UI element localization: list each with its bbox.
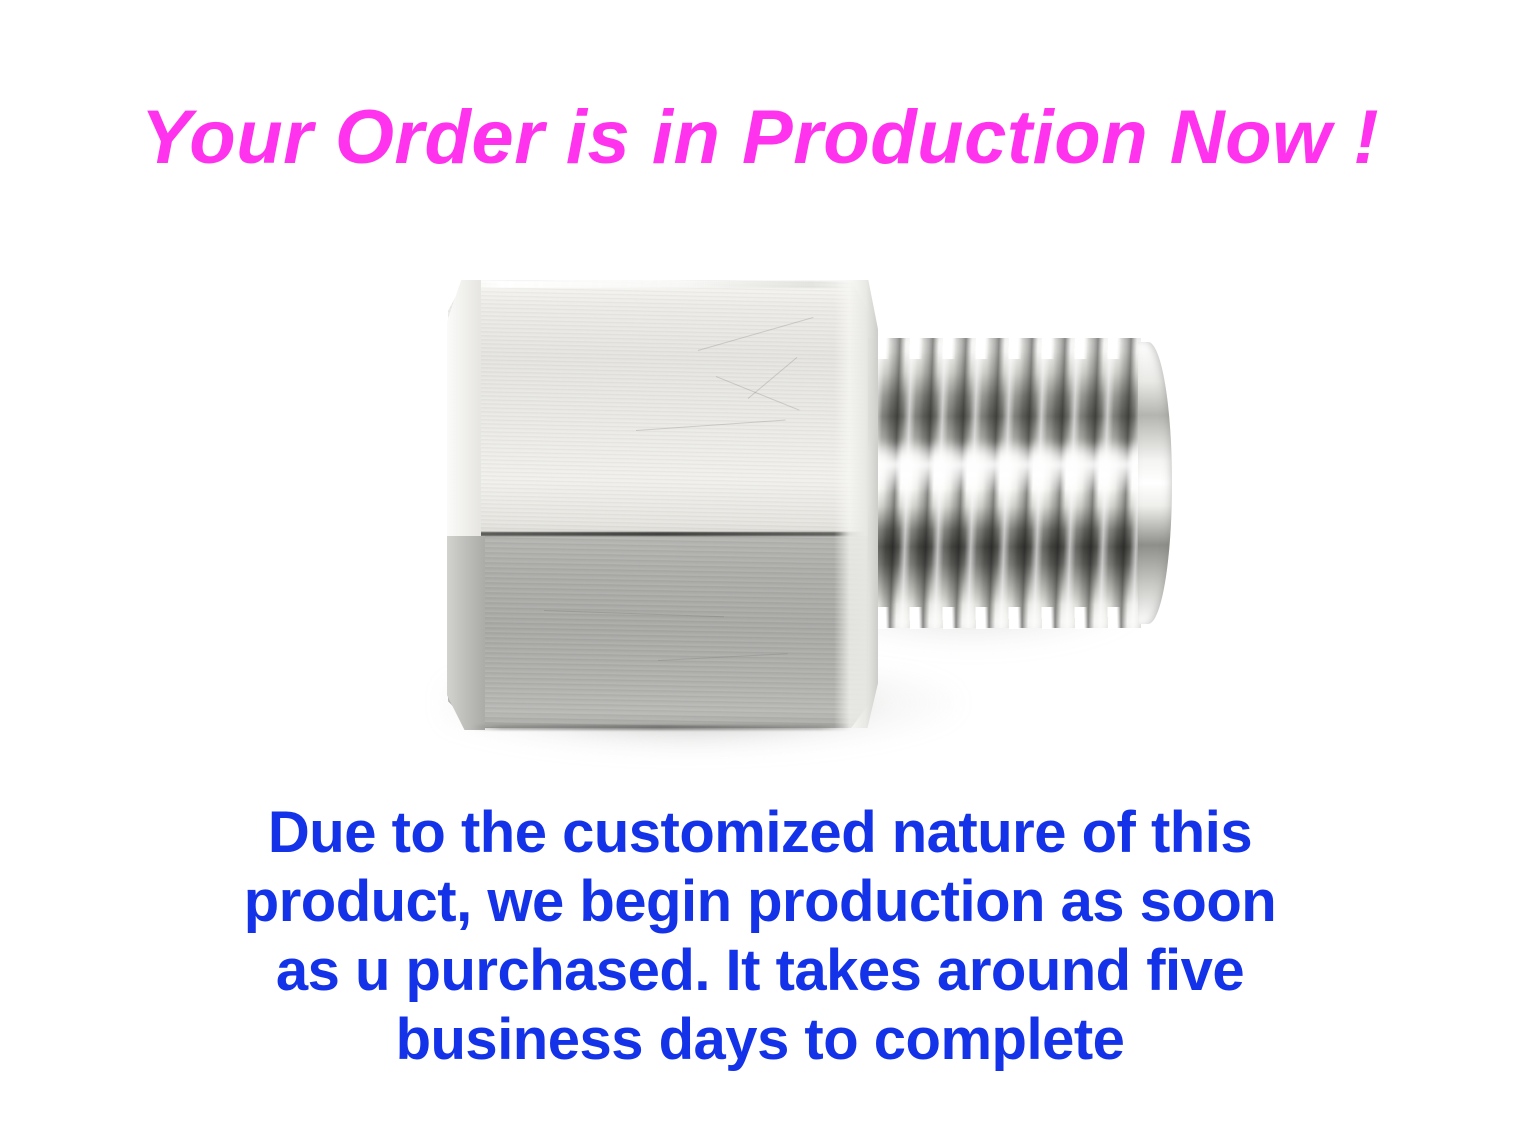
hex-top-highlight: [462, 281, 858, 288]
hex-parting-edge: [454, 532, 864, 536]
product-image: [400, 240, 1220, 780]
thread-specular-band: [840, 442, 1170, 491]
promotional-banner: Your Order is in Production Now !: [0, 0, 1520, 1140]
production-notice: Due to the customized nature of this pro…: [0, 798, 1520, 1074]
thread-crests-top: [844, 337, 1154, 359]
notice-line-4: business days to complete: [0, 1005, 1520, 1074]
hex-shoulder: [834, 280, 878, 728]
hex-chamfer-bottom-left: [447, 536, 485, 730]
hex-chamfer-top-left: [447, 280, 481, 538]
thread-crests-bottom: [844, 607, 1154, 629]
page-title: Your Order is in Production Now !: [0, 96, 1520, 180]
notice-line-3: as u purchased. It takes around five: [0, 936, 1520, 1005]
shank-end-chamfer: [1138, 342, 1172, 624]
hex-coupling-body: [448, 280, 868, 728]
threaded-shank: [840, 338, 1170, 628]
notice-line-2: product, we begin production as soon: [0, 867, 1520, 936]
hex-lower-flat: [448, 536, 868, 728]
notice-line-1: Due to the customized nature of this: [0, 798, 1520, 867]
hex-bottom-edge: [472, 725, 850, 730]
